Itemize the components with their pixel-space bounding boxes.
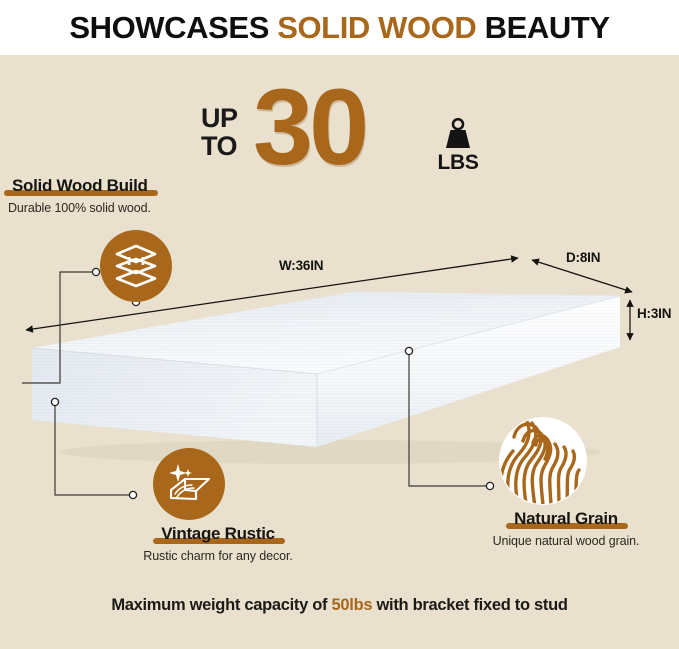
note-text-after: with bracket fixed to stud: [372, 596, 567, 614]
header-banner: SHOWCASES SOLID WOOD BEAUTY: [0, 0, 679, 55]
note-text-before: Maximum weight capacity of: [111, 596, 331, 614]
up-text: UP: [201, 105, 238, 133]
up-to-label: UP TO: [201, 105, 238, 160]
dimension-width-label: W:36IN: [279, 258, 323, 273]
capacity-value: 30: [253, 73, 365, 181]
page-title: SHOWCASES SOLID WOOD BEAUTY: [69, 12, 609, 43]
dimension-height-label: H:3IN: [637, 306, 671, 321]
weight-capacity-callout: UP TO 30 LBS: [196, 83, 496, 183]
dimension-depth-label: D:8IN: [566, 250, 600, 265]
feature-title: Vintage Rustic: [157, 524, 279, 544]
feature-vintage-rustic: Vintage Rustic Rustic charm for any deco…: [118, 524, 318, 563]
weight-icon: [441, 118, 475, 150]
to-text: TO: [201, 133, 238, 161]
feature-title: Solid Wood Build: [8, 176, 152, 196]
lbs-label: LBS: [428, 151, 488, 175]
header-text-beauty: BEAUTY: [476, 10, 609, 45]
stacked-boards-icon: [100, 230, 172, 302]
feature-title: Natural Grain: [510, 509, 622, 529]
max-capacity-note: Maximum weight capacity of 50lbs with br…: [0, 596, 679, 615]
feature-subtitle: Rustic charm for any decor.: [118, 549, 318, 563]
header-text-showcases: SHOWCASES: [69, 10, 277, 45]
lbs-unit-group: LBS: [428, 118, 488, 175]
note-highlight-value: 50lbs: [332, 596, 373, 614]
feature-solid-wood-build: Solid Wood Build Durable 100% solid wood…: [8, 176, 198, 215]
feature-subtitle: Durable 100% solid wood.: [8, 201, 198, 215]
feature-natural-grain: Natural Grain Unique natural wood grain.: [466, 509, 666, 548]
wood-grain-swirl-icon: [499, 417, 587, 505]
header-text-solid-wood: SOLID WOOD: [277, 10, 476, 45]
infographic-canvas: SHOWCASES SOLID WOOD BEAUTY: [0, 0, 679, 649]
wood-plank-sparkle-icon: [153, 448, 225, 520]
feature-subtitle: Unique natural wood grain.: [466, 534, 666, 548]
